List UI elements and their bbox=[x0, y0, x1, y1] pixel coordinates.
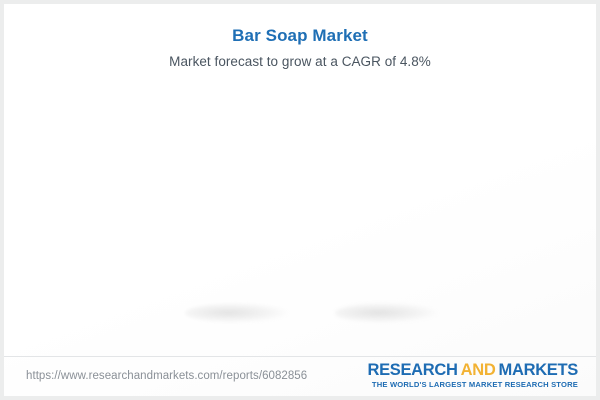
footer-divider bbox=[4, 356, 596, 357]
cylinder-shadow-2025 bbox=[185, 303, 289, 323]
cylinder-shadow-2032 bbox=[335, 303, 439, 323]
brand-tagline: THE WORLD'S LARGEST MARKET RESEARCH STOR… bbox=[367, 380, 578, 390]
brand-word-markets: MARKETS bbox=[499, 361, 578, 379]
report-url[interactable]: https://www.researchandmarkets.com/repor… bbox=[26, 370, 307, 382]
brand-word-and: AND bbox=[461, 361, 496, 379]
chart-card: Bar Soap Market Market forecast to grow … bbox=[4, 4, 596, 396]
brand-wordmark: RESEARCHANDMARKETS bbox=[367, 362, 578, 379]
brand-logo: RESEARCHANDMARKETS THE WORLD'S LARGEST M… bbox=[367, 362, 578, 390]
chart-plot-area: USD 37.06 Billion 2025 USD 51.65 Billion bbox=[4, 4, 596, 396]
brand-word-research: RESEARCH bbox=[367, 361, 457, 379]
